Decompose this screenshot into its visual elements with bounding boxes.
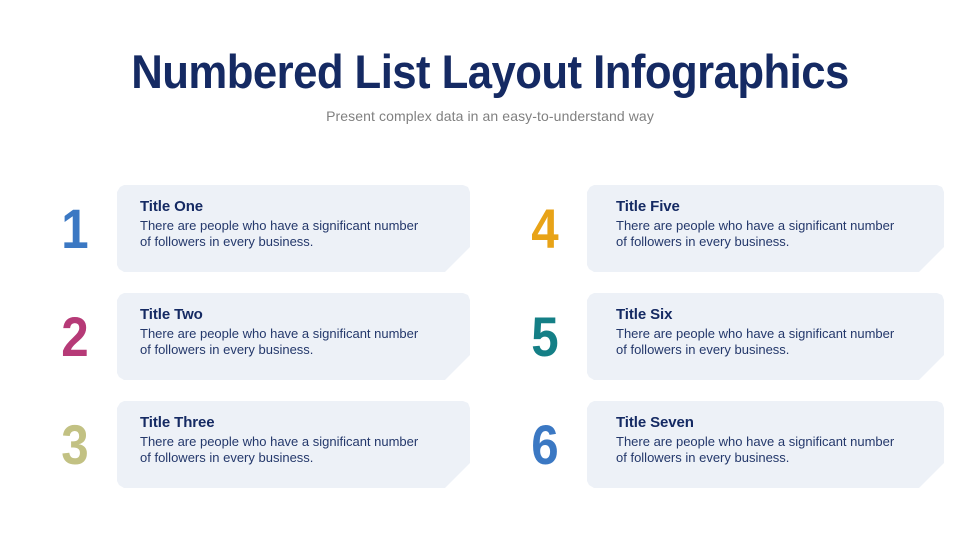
list-item[interactable]: 6 Title Seven There are people who have … (510, 401, 965, 488)
item-number-6: 6 (514, 401, 576, 488)
item-text-block: Title Six There are people who have a si… (616, 305, 946, 358)
item-text-block: Title Seven There are people who have a … (616, 413, 946, 466)
item-description: There are people who have a significant … (140, 434, 430, 466)
list-item[interactable]: 1 Title One There are people who have a … (40, 185, 495, 272)
list-column-left: 1 Title One There are people who have a … (40, 185, 495, 495)
list-item[interactable]: 4 Title Five There are people who have a… (510, 185, 965, 272)
item-title: Title Seven (616, 413, 946, 432)
item-number-1: 1 (44, 185, 106, 272)
item-number-3: 3 (44, 401, 106, 488)
item-text-block: Title Two There are people who have a si… (140, 305, 470, 358)
item-number-4: 4 (514, 185, 576, 272)
list-item[interactable]: 3 Title Three There are people who have … (40, 401, 495, 488)
item-description: There are people who have a significant … (140, 326, 430, 358)
item-title: Title Five (616, 197, 946, 216)
item-description: There are people who have a significant … (616, 326, 906, 358)
infographic-slide: Numbered List Layout Infographics Presen… (0, 0, 980, 551)
item-title: Title Six (616, 305, 946, 324)
item-title: Title Two (140, 305, 470, 324)
item-text-block: Title Three There are people who have a … (140, 413, 470, 466)
item-description: There are people who have a significant … (616, 218, 906, 250)
numbered-list-grid: 1 Title One There are people who have a … (0, 185, 980, 495)
item-text-block: Title One There are people who have a si… (140, 197, 470, 250)
page-subtitle: Present complex data in an easy-to-under… (0, 107, 980, 125)
item-text-block: Title Five There are people who have a s… (616, 197, 946, 250)
slide-header: Numbered List Layout Infographics Presen… (0, 46, 980, 125)
item-number-5: 5 (514, 293, 576, 380)
item-description: There are people who have a significant … (140, 218, 430, 250)
item-title: Title One (140, 197, 470, 216)
item-number-2: 2 (44, 293, 106, 380)
list-item[interactable]: 5 Title Six There are people who have a … (510, 293, 965, 380)
item-title: Title Three (140, 413, 470, 432)
list-column-right: 4 Title Five There are people who have a… (510, 185, 965, 495)
list-item[interactable]: 2 Title Two There are people who have a … (40, 293, 495, 380)
page-title: Numbered List Layout Infographics (34, 46, 945, 98)
item-description: There are people who have a significant … (616, 434, 906, 466)
